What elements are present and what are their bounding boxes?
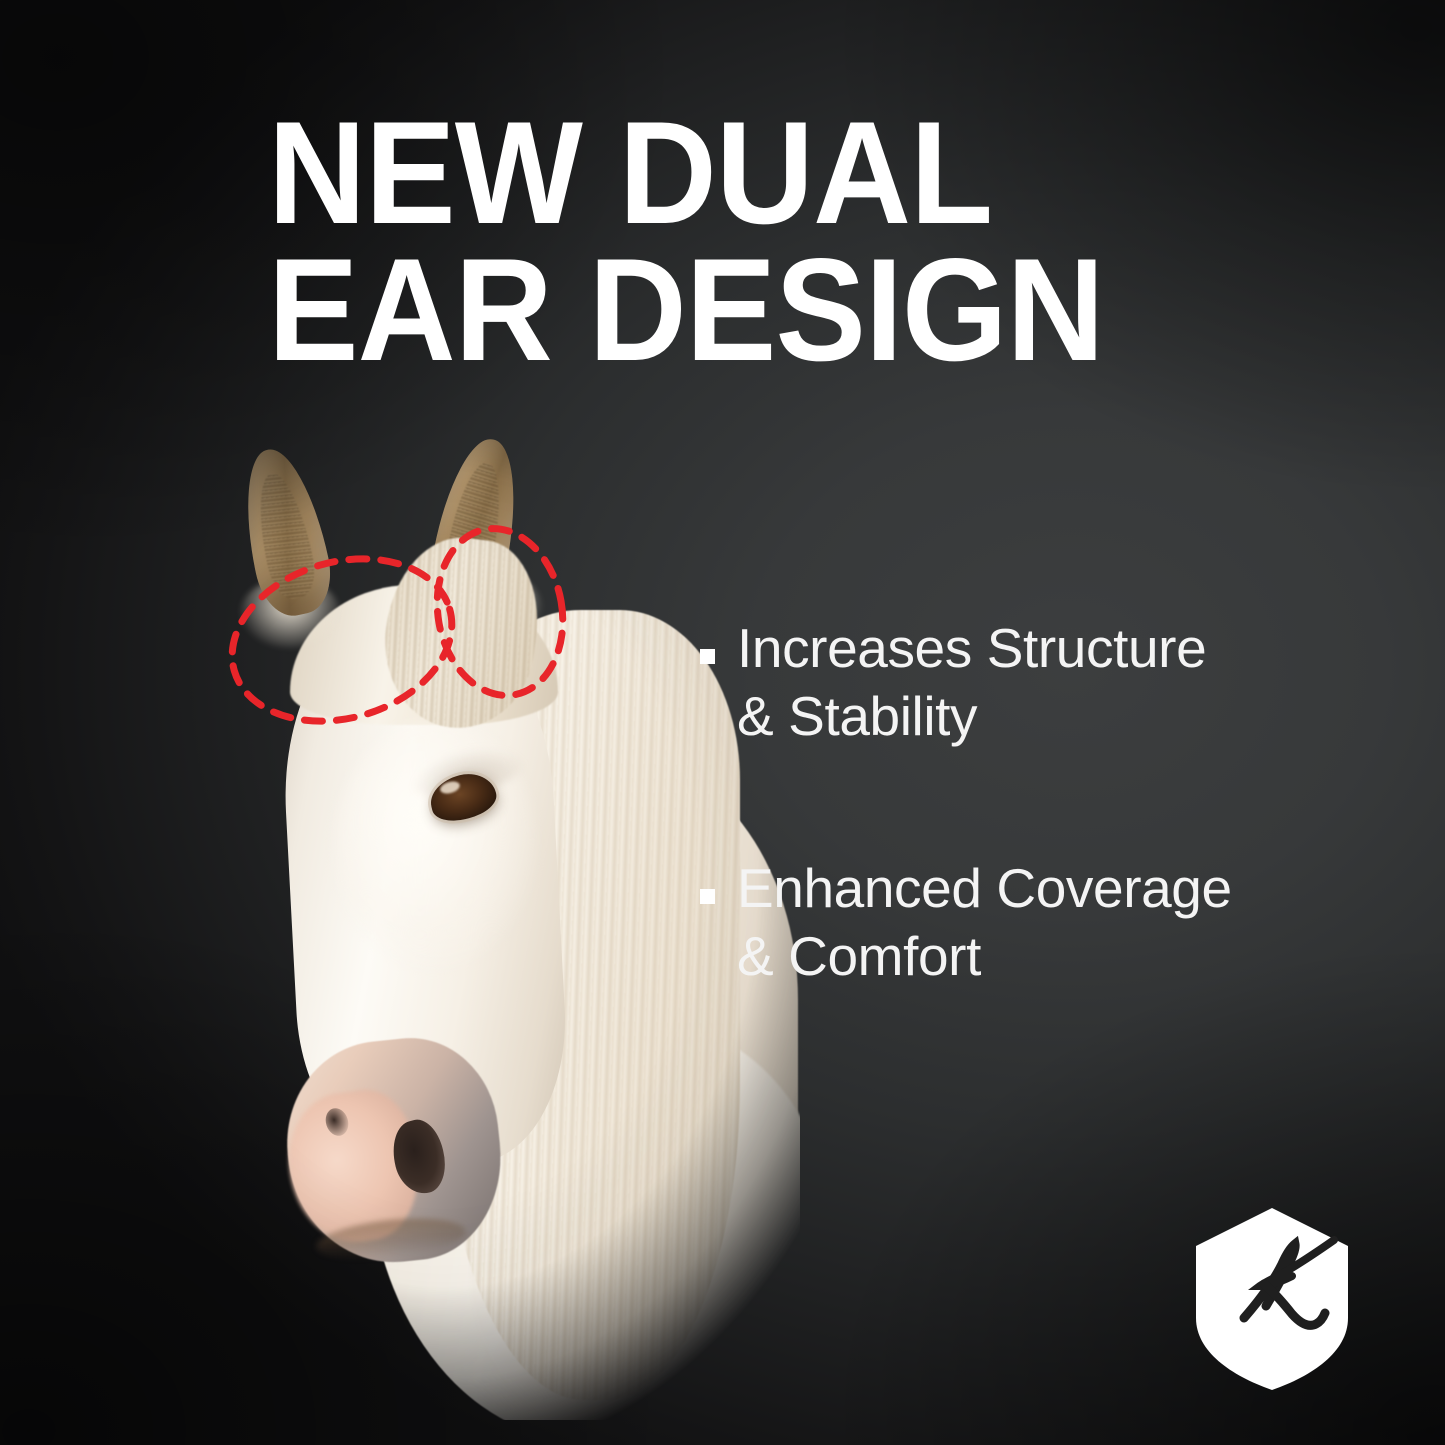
brand-shield-logo-icon — [1192, 1206, 1352, 1392]
bullet-square-icon — [700, 889, 715, 904]
feature-list: Increases Structure & Stability Enhanced… — [700, 614, 1360, 990]
marketing-image: NEW DUAL EAR DESIGN — [0, 0, 1445, 1445]
list-item: Increases Structure & Stability — [700, 614, 1360, 750]
list-item: Enhanced Coverage & Comfort — [700, 854, 1360, 990]
feature-text: Increases Structure & Stability — [737, 614, 1206, 750]
feature-text: Enhanced Coverage & Comfort — [737, 854, 1232, 990]
bullet-square-icon — [700, 649, 715, 664]
horse-ear-left-inner — [249, 468, 320, 602]
headline: NEW DUAL EAR DESIGN — [268, 104, 1198, 378]
